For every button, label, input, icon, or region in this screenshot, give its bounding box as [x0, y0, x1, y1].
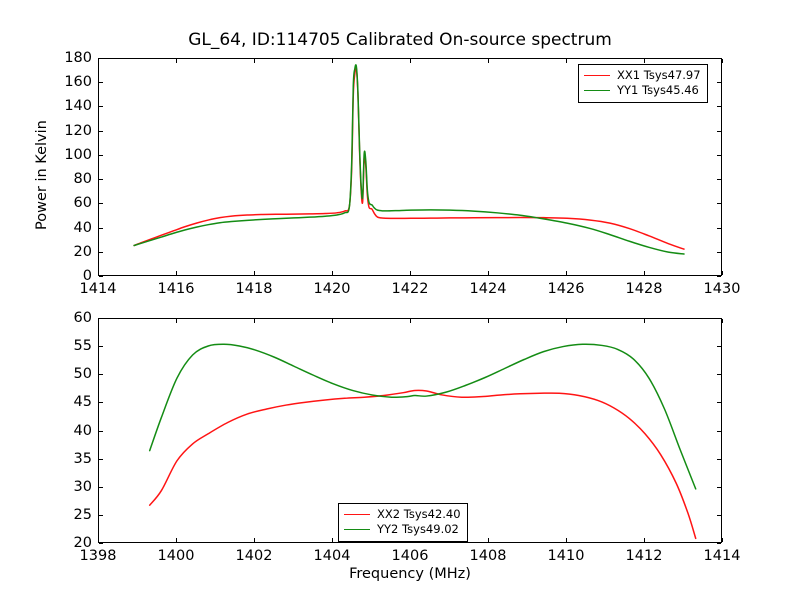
legend-line-swatch — [584, 90, 610, 91]
y-tick-mark — [99, 402, 103, 403]
x-tick-mark-top — [410, 59, 411, 63]
x-tick-mark — [98, 271, 99, 275]
x-tick-mark — [410, 271, 411, 275]
x-tick-mark — [566, 271, 567, 275]
y-tick-label: 35 — [46, 451, 92, 467]
y-tick-mark-right — [717, 252, 721, 253]
x-tick-label: 1408 — [470, 548, 507, 564]
x-tick-mark-top — [176, 59, 177, 63]
x-tick-mark-top — [644, 59, 645, 63]
y-tick-label: 120 — [46, 123, 92, 139]
y-tick-mark — [99, 515, 103, 516]
x-tick-mark-top — [176, 319, 177, 323]
y-tick-mark-right — [717, 402, 721, 403]
legend-entry: XX1 Tsys47.97 — [584, 68, 701, 83]
x-tick-label: 1428 — [626, 281, 663, 297]
x-tick-label: 1414 — [704, 548, 741, 564]
y-tick-mark-right — [717, 459, 721, 460]
y-tick-mark — [99, 203, 103, 204]
x-tick-mark-top — [722, 59, 723, 63]
y-tick-mark — [99, 131, 103, 132]
x-tick-mark — [176, 271, 177, 275]
x-tick-mark — [332, 538, 333, 542]
x-tick-mark — [488, 271, 489, 275]
x-tick-mark — [722, 538, 723, 542]
y-tick-mark — [99, 374, 103, 375]
x-tick-mark — [488, 538, 489, 542]
x-tick-mark-top — [488, 59, 489, 63]
x-tick-mark — [332, 271, 333, 275]
y-tick-mark-right — [717, 431, 721, 432]
x-tick-mark-top — [98, 319, 99, 323]
y-tick-mark-right — [717, 346, 721, 347]
y-tick-label: 25 — [46, 507, 92, 523]
y-tick-mark — [99, 106, 103, 107]
y-tick-mark-right — [717, 374, 721, 375]
top-legend: XX1 Tsys47.97YY1 Tsys45.46 — [578, 64, 708, 103]
x-tick-label: 1412 — [626, 548, 663, 564]
legend-entry: XX2 Tsys42.40 — [344, 507, 461, 522]
y-tick-mark-right — [717, 515, 721, 516]
y-tick-label: 20 — [46, 244, 92, 260]
x-tick-mark-top — [488, 319, 489, 323]
page-title: GL_64, ID:114705 Calibrated On-source sp… — [0, 30, 800, 50]
bottom-legend: XX2 Tsys42.40YY2 Tsys49.02 — [338, 503, 468, 542]
y-tick-label: 45 — [46, 394, 92, 410]
y-tick-mark — [99, 58, 103, 59]
x-tick-mark-top — [332, 59, 333, 63]
x-tick-mark-top — [410, 319, 411, 323]
y-tick-label: 40 — [46, 220, 92, 236]
y-tick-mark — [99, 459, 103, 460]
y-tick-mark — [99, 252, 103, 253]
legend-line-swatch — [584, 75, 610, 76]
y-tick-label: 50 — [46, 366, 92, 382]
top-y-axis-title: Power in Kelvin — [34, 120, 50, 230]
legend-label: YY1 Tsys45.46 — [617, 85, 699, 97]
y-tick-mark-right — [717, 543, 721, 544]
legend-line-swatch — [344, 529, 370, 530]
y-tick-mark-right — [717, 106, 721, 107]
x-tick-label: 1410 — [548, 548, 585, 564]
y-tick-mark — [99, 179, 103, 180]
x-tick-label: 1402 — [236, 548, 273, 564]
x-tick-label: 1424 — [470, 281, 507, 297]
y-tick-mark — [99, 543, 103, 544]
y-tick-label: 40 — [46, 423, 92, 439]
x-tick-mark — [644, 538, 645, 542]
y-tick-label: 180 — [46, 50, 92, 66]
y-tick-mark-right — [717, 155, 721, 156]
x-tick-label: 1416 — [158, 281, 195, 297]
x-tick-label: 1414 — [80, 281, 117, 297]
x-tick-mark — [254, 271, 255, 275]
y-tick-mark — [99, 228, 103, 229]
x-tick-label: 1398 — [80, 548, 117, 564]
y-tick-label: 60 — [46, 195, 92, 211]
x-tick-mark-top — [644, 319, 645, 323]
y-tick-mark-right — [717, 276, 721, 277]
x-tick-mark — [176, 538, 177, 542]
x-tick-mark — [722, 271, 723, 275]
legend-label: XX1 Tsys47.97 — [617, 70, 701, 82]
x-tick-mark-top — [98, 59, 99, 63]
x-tick-label: 1400 — [158, 548, 195, 564]
y-tick-label: 160 — [46, 74, 92, 90]
x-tick-mark-top — [566, 59, 567, 63]
x-tick-label: 1426 — [548, 281, 585, 297]
x-tick-mark — [566, 538, 567, 542]
legend-entry: YY1 Tsys45.46 — [584, 83, 701, 98]
y-tick-label: 80 — [46, 171, 92, 187]
y-tick-mark-right — [717, 179, 721, 180]
y-tick-label: 60 — [46, 310, 92, 326]
x-tick-mark-top — [254, 59, 255, 63]
y-tick-mark-right — [717, 318, 721, 319]
y-tick-label: 140 — [46, 98, 92, 114]
x-tick-label: 1430 — [704, 281, 741, 297]
x-tick-mark — [98, 538, 99, 542]
y-tick-mark-right — [717, 131, 721, 132]
x-tick-label: 1418 — [236, 281, 273, 297]
y-tick-mark-right — [717, 82, 721, 83]
x-tick-mark — [254, 538, 255, 542]
x-tick-label: 1420 — [314, 281, 351, 297]
y-tick-mark-right — [717, 58, 721, 59]
x-tick-mark-top — [566, 319, 567, 323]
bottom-x-axis-title: Frequency (MHz) — [349, 566, 471, 582]
y-tick-mark — [99, 431, 103, 432]
y-tick-mark-right — [717, 228, 721, 229]
y-tick-mark — [99, 318, 103, 319]
y-tick-mark — [99, 82, 103, 83]
y-tick-mark-right — [717, 487, 721, 488]
series-line-yy2 — [150, 344, 696, 489]
x-tick-label: 1422 — [392, 281, 429, 297]
x-tick-label: 1406 — [392, 548, 429, 564]
y-tick-label: 30 — [46, 479, 92, 495]
x-tick-mark — [644, 271, 645, 275]
y-tick-label: 100 — [46, 147, 92, 163]
y-tick-mark — [99, 155, 103, 156]
y-tick-mark-right — [717, 203, 721, 204]
y-tick-mark — [99, 346, 103, 347]
figure-canvas: GL_64, ID:114705 Calibrated On-source sp… — [0, 0, 800, 600]
y-tick-mark — [99, 487, 103, 488]
legend-line-swatch — [344, 514, 370, 515]
y-tick-label: 55 — [46, 338, 92, 354]
legend-label: XX2 Tsys42.40 — [377, 509, 461, 521]
y-tick-mark — [99, 276, 103, 277]
legend-entry: YY2 Tsys49.02 — [344, 522, 461, 537]
x-tick-mark-top — [254, 319, 255, 323]
x-tick-label: 1404 — [314, 548, 351, 564]
legend-label: YY2 Tsys49.02 — [377, 524, 459, 536]
x-tick-mark-top — [722, 319, 723, 323]
x-tick-mark-top — [332, 319, 333, 323]
